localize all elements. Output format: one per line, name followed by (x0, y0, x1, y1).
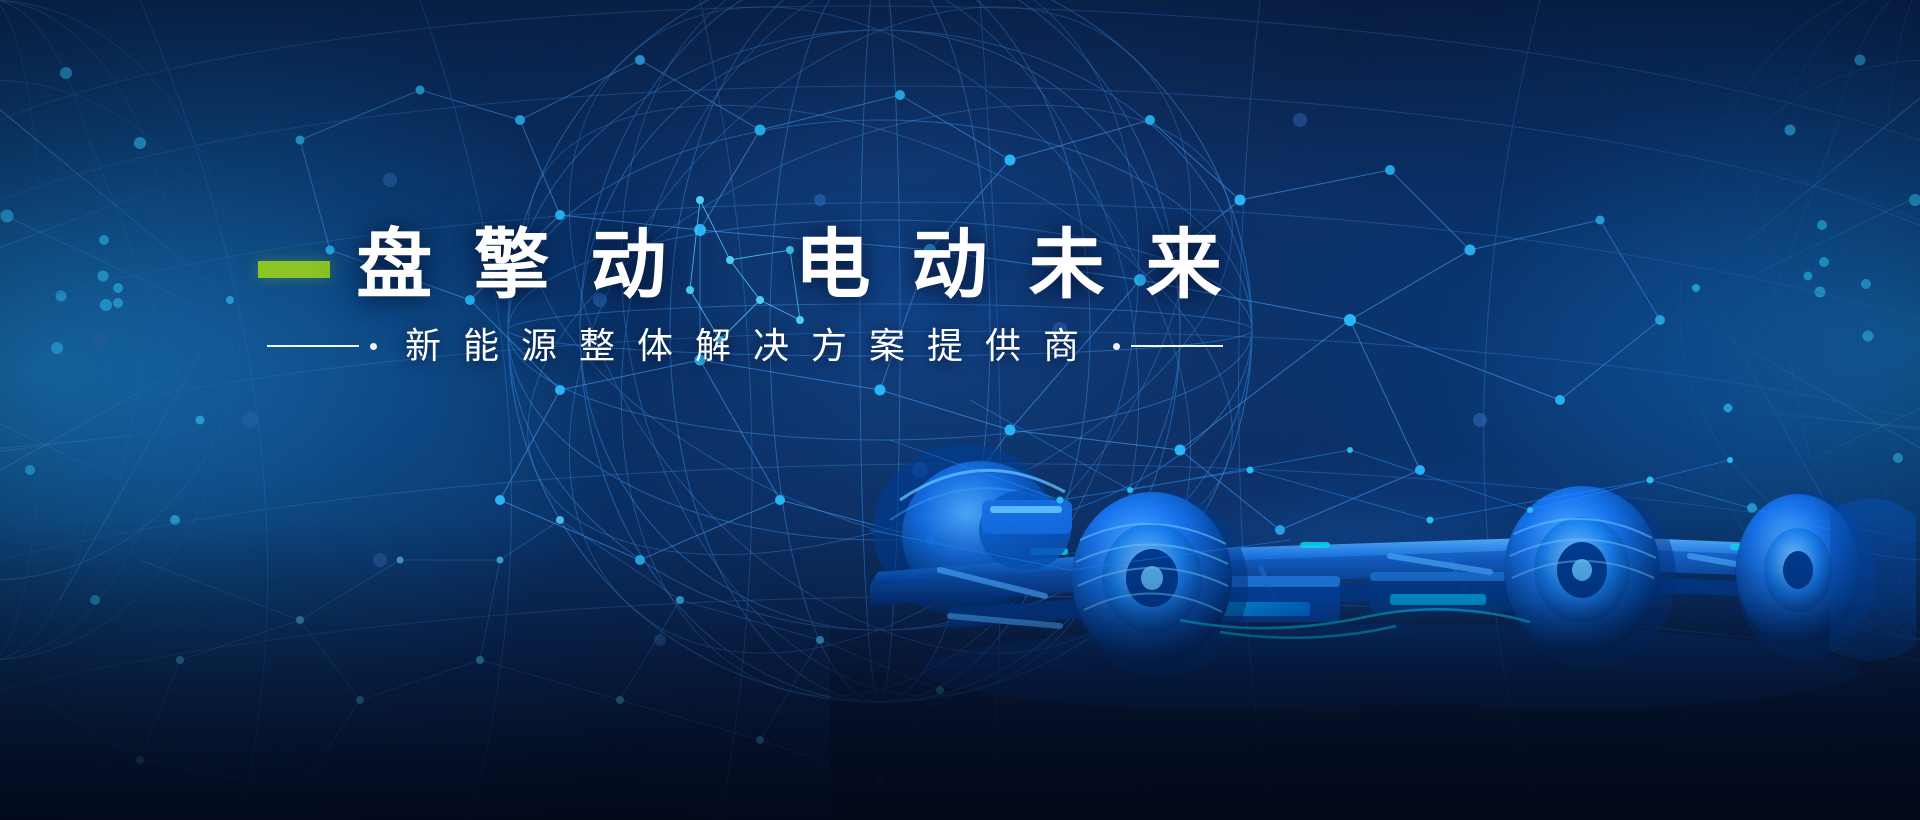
green-dash-accent-icon (258, 261, 330, 278)
hero-banner: 盘 擎 动 电 动 未 来 新 能 源 整 体 解 决 方 案 提 供 商 (0, 0, 1920, 820)
headline: 盘 擎 动 电 动 未 来 (258, 228, 1232, 304)
headline-part-2: 电 动 未 来 (794, 228, 1231, 304)
subtitle: 新 能 源 整 体 解 决 方 案 提 供 商 (405, 328, 1085, 364)
hero-text-block: 盘 擎 动 电 动 未 来 新 能 源 整 体 解 决 方 案 提 供 商 (0, 228, 1490, 364)
dot-dash-rule-icon (1113, 343, 1223, 350)
bottom-gradient (0, 520, 1920, 820)
subtitle-row: 新 能 源 整 体 解 决 方 案 提 供 商 (267, 328, 1223, 364)
headline-part-1: 盘 擎 动 (356, 228, 676, 304)
dash-dot-rule-icon (267, 343, 377, 350)
